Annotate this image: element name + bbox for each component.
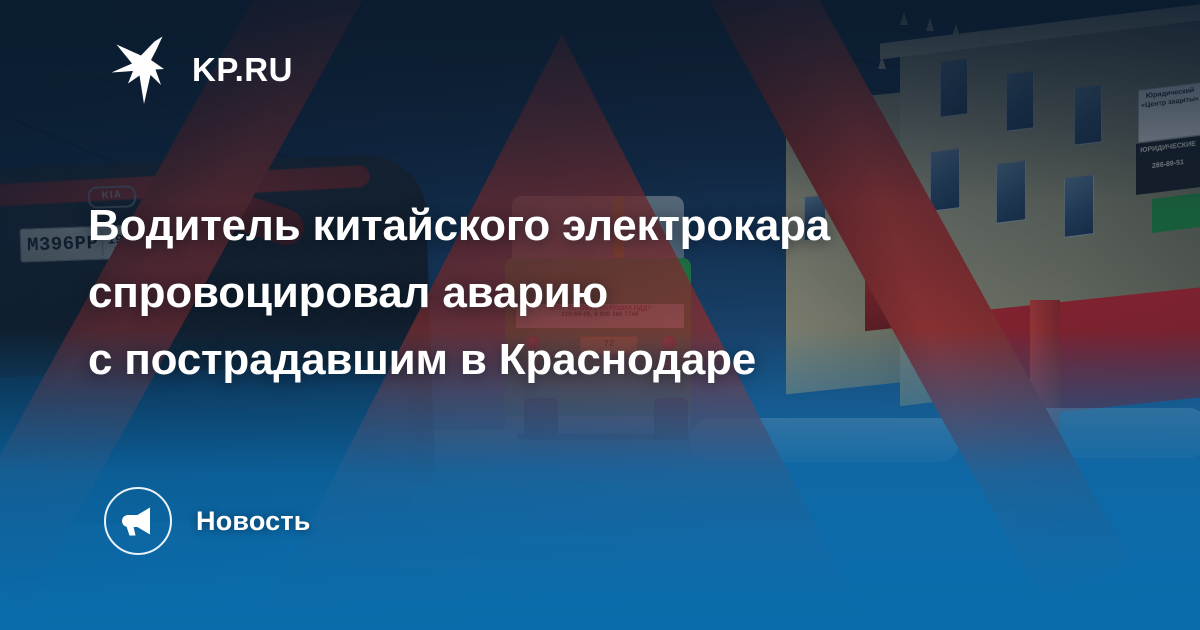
card-content: KP.RU Водитель китайского электрокара сп… [0, 0, 1200, 630]
swallow-bird-icon [108, 33, 170, 105]
headline-line-3: с пострадавшим в Краснодаре [88, 326, 1088, 393]
category-badge[interactable]: Новость [104, 487, 311, 555]
news-share-card: Юридический «Центр защиты» ЮРИДИЧЕСКИЕ 2… [0, 0, 1200, 630]
badge-label: Новость [196, 506, 311, 537]
brand-lockup[interactable]: KP.RU [108, 33, 293, 105]
badge-circle [104, 487, 172, 555]
page-title: Водитель китайского электрокара спровоци… [88, 192, 1088, 393]
headline-line-1: Водитель китайского электрокара [88, 192, 1088, 259]
brand-name: KP.RU [192, 53, 293, 86]
headline-line-2: спровоцировал аварию [88, 259, 1088, 326]
megaphone-icon [120, 506, 156, 536]
